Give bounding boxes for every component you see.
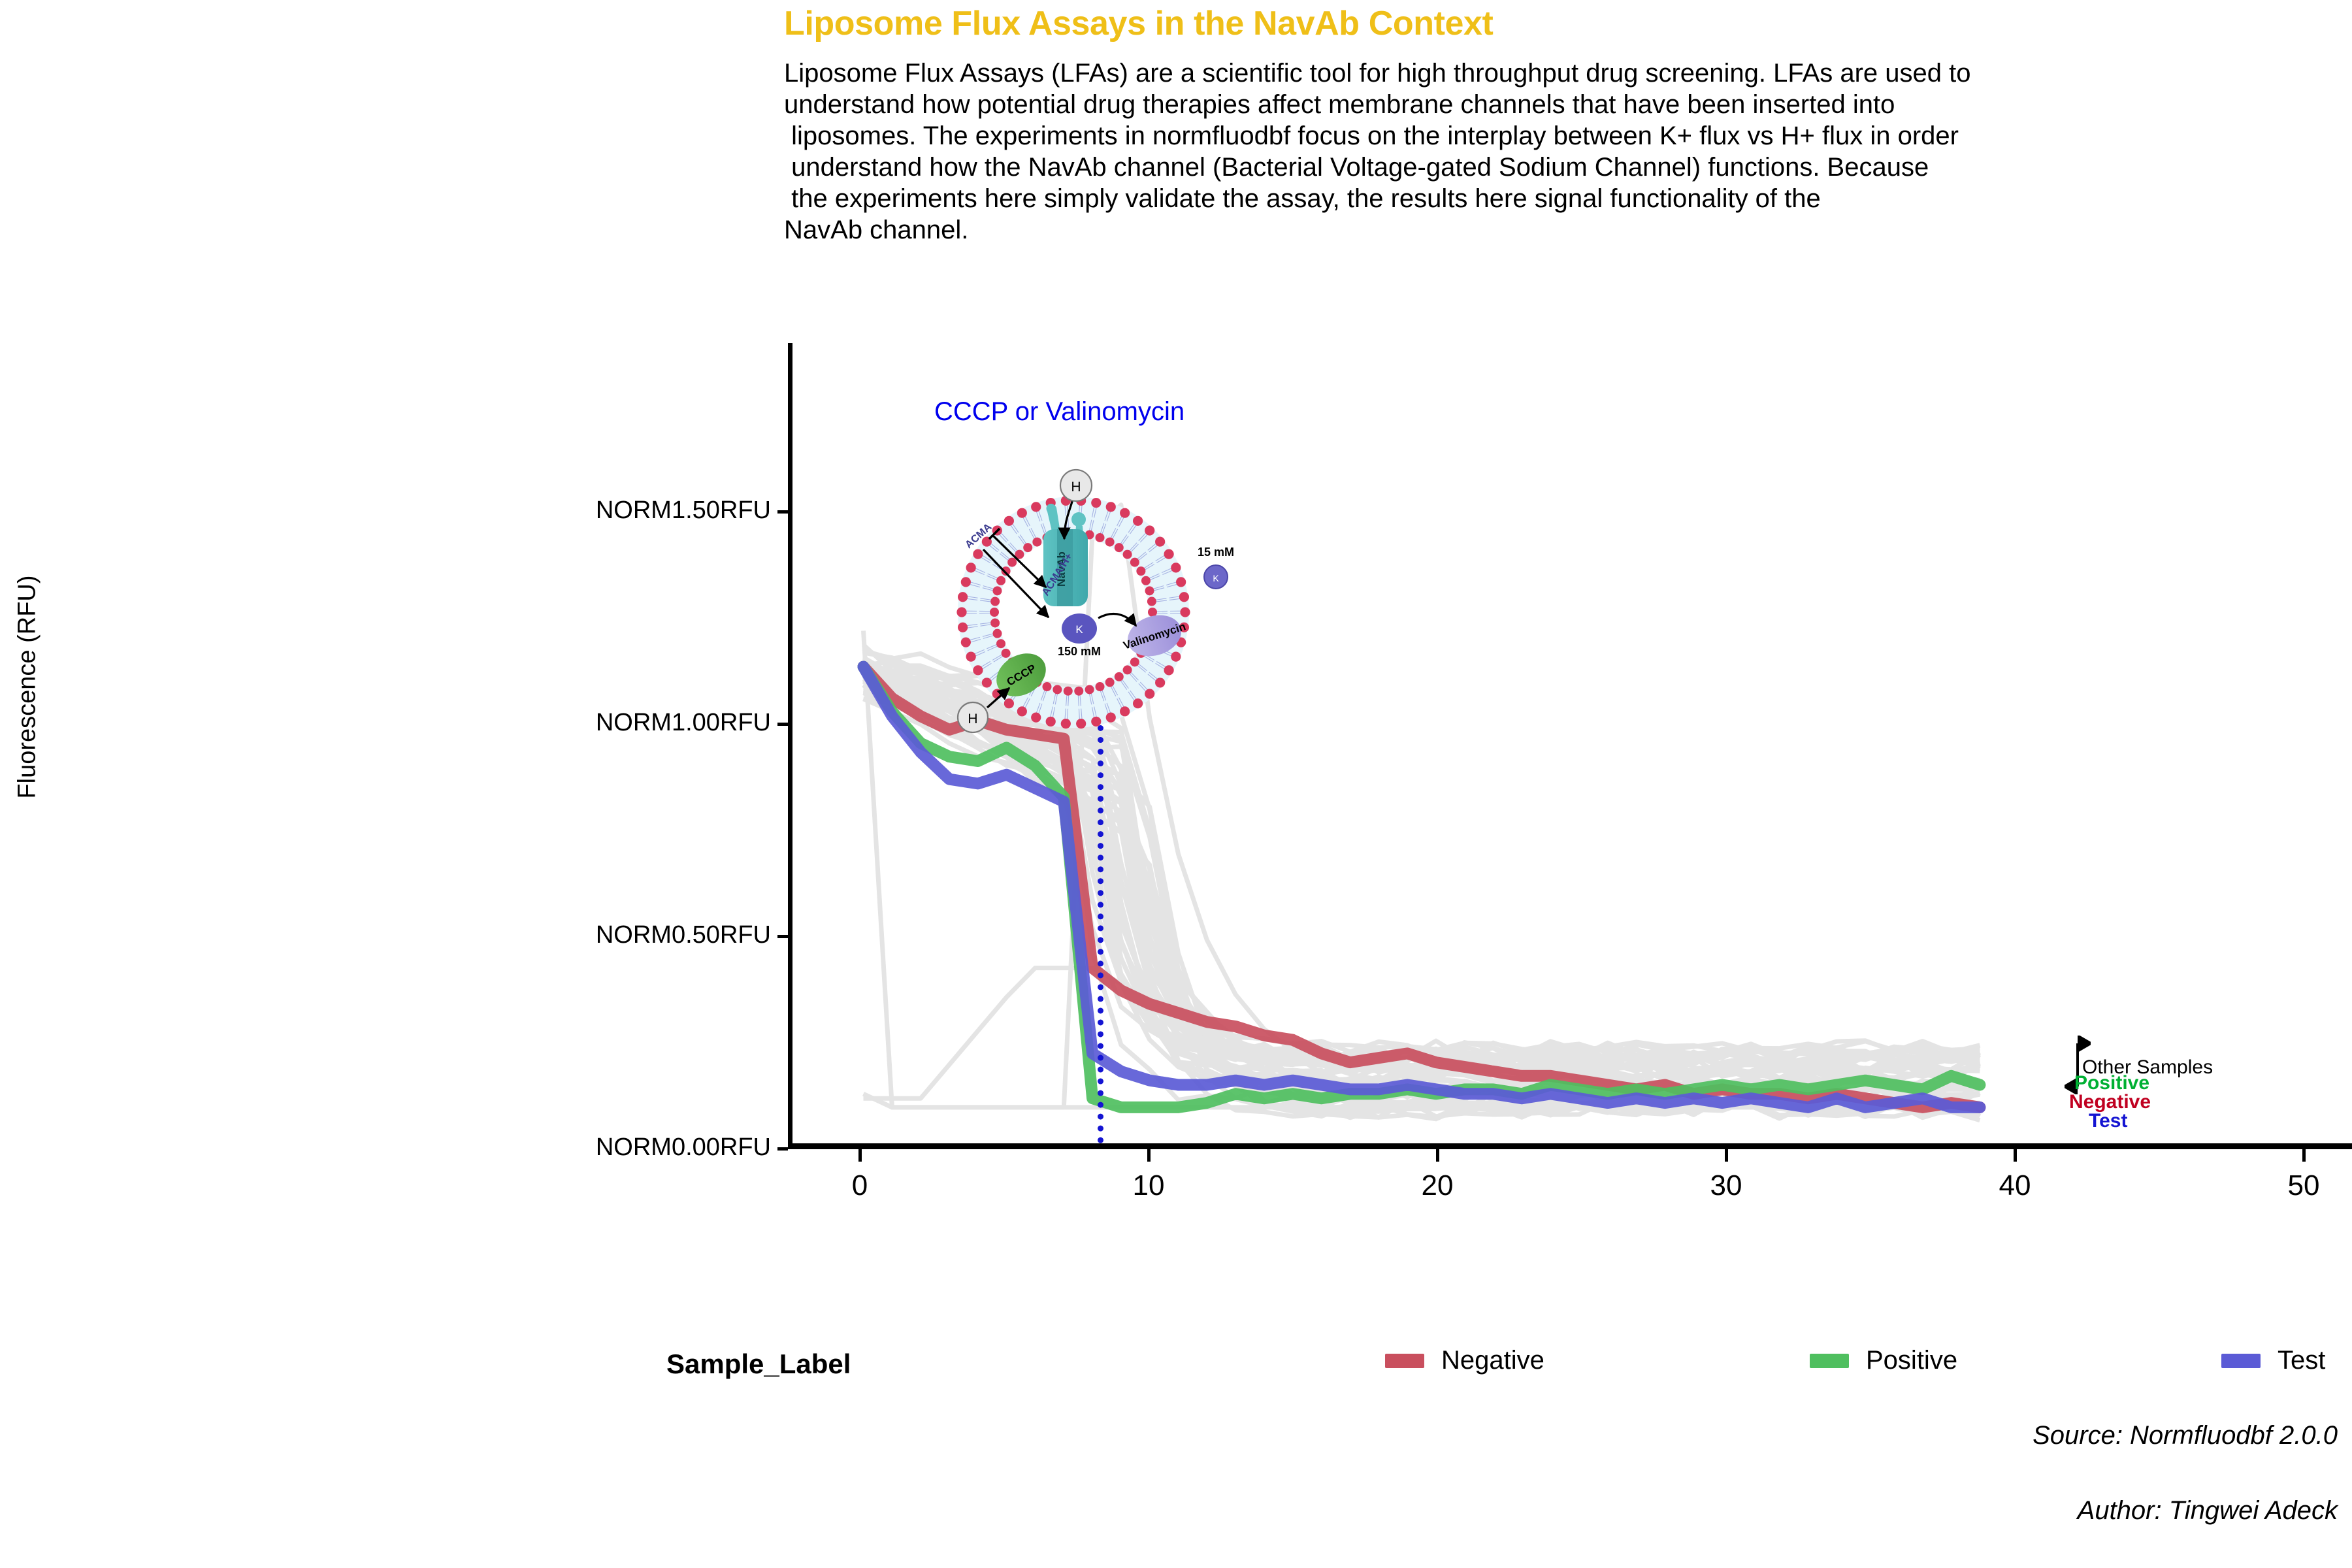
legend-entry-positive[interactable]: Positive (1810, 1346, 1957, 1375)
x-tick-mark-50 (2302, 1149, 2306, 1162)
y-axis-title: Fluorescence (RFU) (14, 517, 42, 857)
inside-conc-label: 150 mM (1058, 645, 1101, 658)
y-tick-label-050: NORM0.50RFU (523, 921, 771, 949)
y-tick-mark-050 (777, 935, 788, 938)
potassium-label-outside: K (1213, 573, 1219, 583)
liposome-diagram: NavAb H Valinomycin CCCP H K 150 mM K 15… (924, 428, 1264, 748)
legend-label-negative: Negative (1441, 1346, 1544, 1375)
treatment-annotation-label: CCCP or Valinomycin (934, 397, 1184, 427)
potassium-inside-icon: K 150 mM (1058, 613, 1101, 658)
legend-entry-negative[interactable]: Negative (1385, 1346, 1544, 1375)
potassium-label-inside: K (1075, 623, 1083, 636)
x-tick-label-40: 40 (1976, 1169, 2054, 1202)
annotation-test: Test (2089, 1110, 2127, 1132)
legend: Sample_Label Negative Positive Test (666, 1346, 2352, 1385)
x-tick-label-50: 50 (2264, 1169, 2343, 1202)
y-tick-label-150: NORM1.50RFU (523, 497, 771, 525)
author-caption: Author: Tingwei Adeck (2078, 1496, 2338, 1526)
legend-title: Sample_Label (666, 1348, 851, 1380)
x-tick-label-30: 30 (1687, 1169, 1765, 1202)
header-block: Liposome Flux Assays in the NavAb Contex… (784, 4, 2352, 246)
y-tick-mark-000 (777, 1147, 788, 1151)
y-tick-mark-100 (777, 723, 788, 726)
x-tick-mark-20 (1436, 1149, 1439, 1162)
y-tick-label-000: NORM0.00RFU (523, 1134, 771, 1162)
x-tick-label-10: 10 (1109, 1169, 1188, 1202)
chart-subtitle: Liposome Flux Assays (LFAs) are a scient… (784, 57, 2352, 246)
proton-top-icon: H (1060, 470, 1092, 501)
legend-swatch-test (2221, 1354, 2261, 1368)
legend-swatch-positive (1810, 1354, 1849, 1368)
x-tick-mark-40 (2014, 1149, 2017, 1162)
x-tick-label-0: 0 (821, 1169, 899, 1202)
svg-text:H: H (1071, 480, 1081, 495)
treatment-vline (1098, 725, 1103, 1143)
x-tick-mark-10 (1147, 1149, 1151, 1162)
y-tick-mark-150 (777, 510, 788, 514)
legend-label-test: Test (2278, 1346, 2325, 1375)
proton-bottom-icon: H (958, 702, 988, 732)
legend-label-positive: Positive (1866, 1346, 1957, 1375)
y-tick-label-100: NORM1.00RFU (523, 709, 771, 737)
source-caption: Source: Normfluodbf 2.0.0 (2033, 1421, 2338, 1450)
svg-text:H: H (968, 711, 977, 727)
x-tick-mark-30 (1725, 1149, 1728, 1162)
chart-title: Liposome Flux Assays in the NavAb Contex… (784, 4, 2352, 43)
x-axis-line (788, 1143, 2352, 1149)
legend-swatch-negative (1385, 1354, 1424, 1368)
x-tick-mark-0 (858, 1149, 862, 1162)
x-tick-label-20: 20 (1398, 1169, 1477, 1202)
legend-entry-test[interactable]: Test (2221, 1346, 2325, 1375)
outside-conc-label: 15 mM (1198, 546, 1234, 559)
potassium-outside-icon: K 15 mM (1198, 546, 1234, 589)
